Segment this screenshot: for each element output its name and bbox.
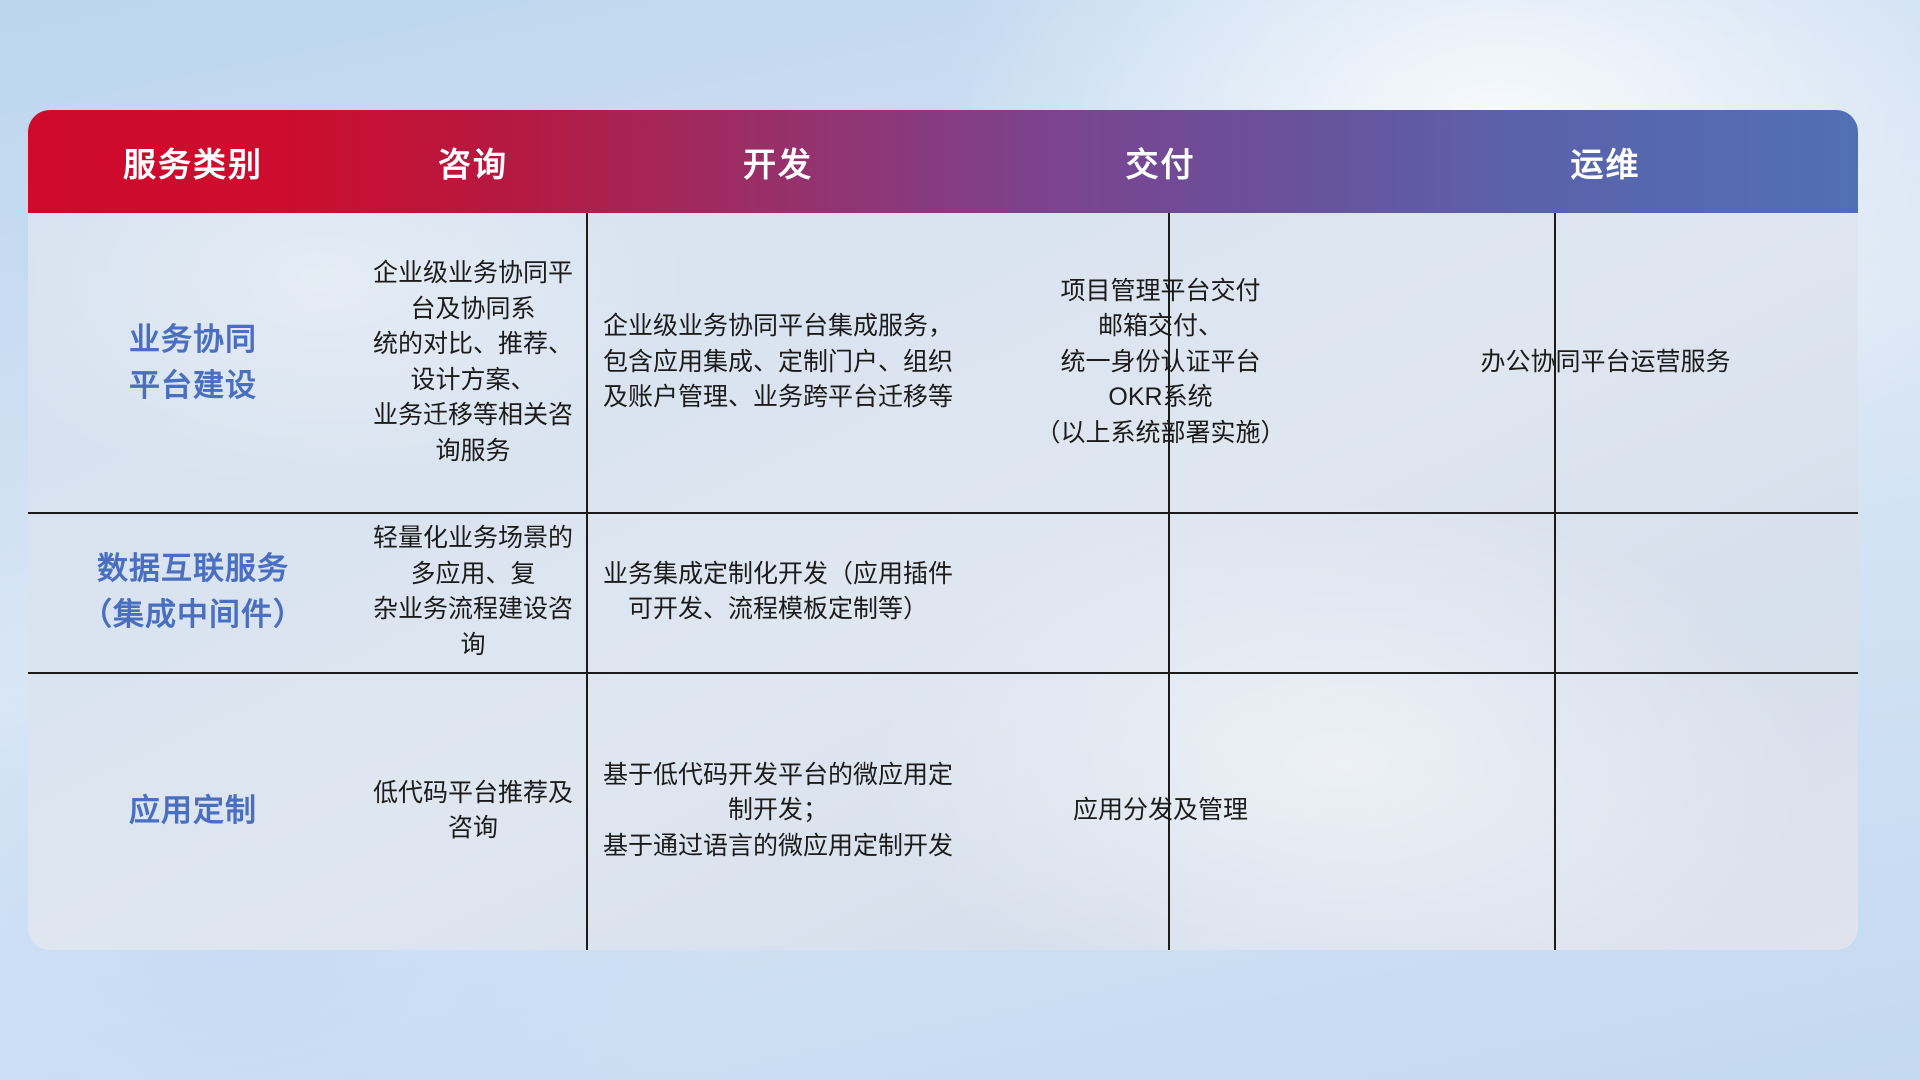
cell-delivery-row1: 项目管理平台交付 邮箱交付、 统一身份认证平台 OKR系统 （以上系统部署实施） (968, 213, 1353, 512)
cell-delivery-row2 (968, 512, 1353, 672)
row-label-data-integration: 数据互联服务 （集成中间件） (28, 512, 358, 672)
table-header-row: 服务类别 咨询 开发 交付 运维 (28, 110, 1858, 213)
table-rows: 业务协同 平台建设 企业级业务协同平台及协同系 统的对比、推荐、设计方案、 业务… (28, 213, 1858, 950)
row-divider-2 (28, 672, 1858, 674)
table-row: 业务协同 平台建设 企业级业务协同平台及协同系 统的对比、推荐、设计方案、 业务… (28, 213, 1858, 512)
column-header-operations: 运维 (1353, 138, 1858, 186)
table-row: 应用定制 低代码平台推荐及咨询 基于低代码开发平台的微应用定 制开发； 基于通过… (28, 672, 1858, 950)
column-header-category: 服务类别 (28, 138, 358, 186)
cell-consulting-row2: 轻量化业务场景的多应用、复 杂业务流程建设咨询 (358, 512, 588, 672)
row-divider-1 (28, 512, 1858, 514)
column-divider-3 (1554, 213, 1556, 950)
cell-development-row1: 企业级业务协同平台集成服务， 包含应用集成、定制门户、组织 及账户管理、业务跨平… (588, 213, 968, 512)
cell-consulting-row1: 企业级业务协同平台及协同系 统的对比、推荐、设计方案、 业务迁移等相关咨询服务 (358, 213, 588, 512)
cell-operations-row3 (1353, 672, 1858, 950)
row-label-app-customization: 应用定制 (28, 672, 358, 950)
cell-operations-row2 (1353, 512, 1858, 672)
column-header-development: 开发 (588, 138, 968, 186)
column-header-delivery: 交付 (968, 138, 1353, 186)
column-divider-2 (1168, 213, 1170, 950)
cell-operations-row1: 办公协同平台运营服务 (1353, 213, 1858, 512)
cell-development-row3: 基于低代码开发平台的微应用定 制开发； 基于通过语言的微应用定制开发 (588, 672, 968, 950)
row-label-business-collaboration: 业务协同 平台建设 (28, 213, 358, 512)
cell-development-row2: 业务集成定制化开发（应用插件 可开发、流程模板定制等） (588, 512, 968, 672)
column-header-consulting: 咨询 (358, 138, 588, 186)
slide-canvas: 服务类别 咨询 开发 交付 运维 业务协同 平台建设 企业级业务协同平台及协同系… (0, 0, 1920, 1080)
table-row: 数据互联服务 （集成中间件） 轻量化业务场景的多应用、复 杂业务流程建设咨询 业… (28, 512, 1858, 672)
cell-delivery-row3: 应用分发及管理 (968, 672, 1353, 950)
column-divider-1 (586, 213, 588, 950)
cell-consulting-row3: 低代码平台推荐及咨询 (358, 672, 588, 950)
